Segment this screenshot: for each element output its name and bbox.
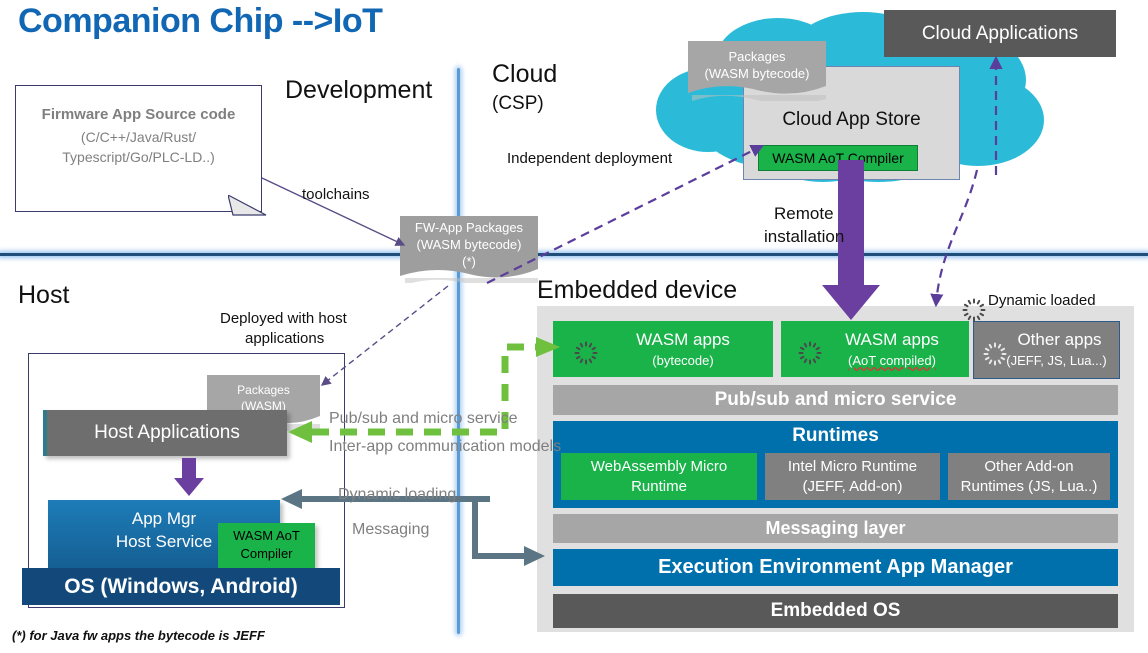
connector-overlay <box>0 0 1148 653</box>
cloud-to-device-dashed-arrow <box>936 170 977 305</box>
diagram-canvas: Companion Chip -->IoT Development Cloud … <box>0 0 1148 653</box>
deployed-with-host-arrow <box>322 286 448 385</box>
label-toolchains: toolchains <box>302 186 370 203</box>
label-remote-installation-line1: Remote <box>774 204 834 224</box>
label-dynamic-loading: Dynamic loading <box>338 486 456 504</box>
label-inter-app-communication: Inter-app communication models <box>329 438 561 456</box>
footnote: (*) for Java fw apps the bytecode is JEF… <box>12 628 265 643</box>
label-deployed-with-host-line2: applications <box>245 330 324 347</box>
host-internal-arrow <box>174 458 204 496</box>
label-pubsub-micro-service: Pub/sub and micro service <box>329 410 518 428</box>
label-deployed-with-host-line1: Deployed with host <box>220 310 347 327</box>
label-messaging: Messaging <box>352 521 429 539</box>
label-remote-installation-line2: installation <box>764 227 844 247</box>
label-independent-deployment: Independent deployment <box>507 150 672 167</box>
